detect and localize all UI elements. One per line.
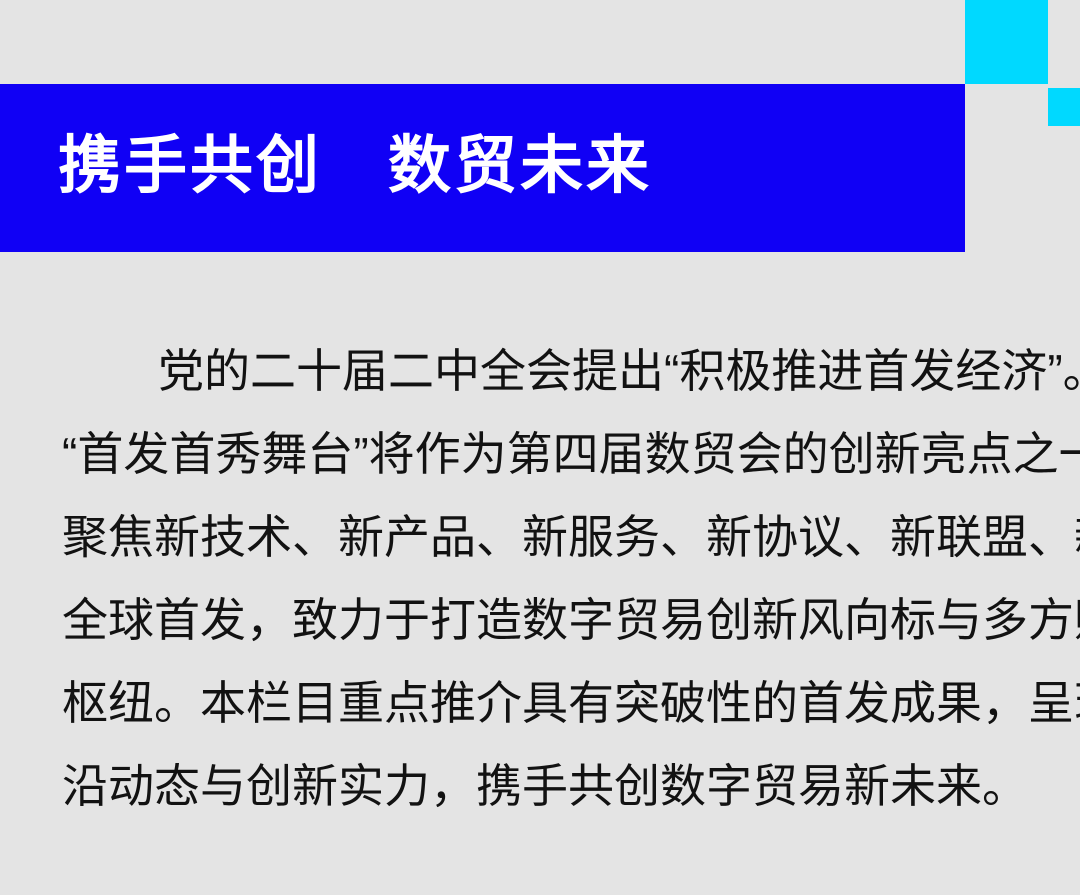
cyan-square-small-decoration <box>1048 88 1080 126</box>
cyan-square-large-decoration <box>965 0 1048 84</box>
slide-root: 携手共创 数贸未来 党的二十届二中全会提出“积极推进首发经济”。 “首发首秀舞台… <box>0 0 1080 895</box>
title-banner: 携手共创 数贸未来 <box>0 84 965 252</box>
body-line-2: “首发首秀舞台”将作为第四届数贸会的创新亮点之一， <box>62 413 1024 496</box>
body-line-4: 全球首发，致力于打造数字贸易创新风向标与多方赋能 <box>62 579 1024 662</box>
body-line-5: 枢纽。本栏目重点推介具有突破性的首发成果，呈现前 <box>62 662 1024 745</box>
body-paragraph: 党的二十届二中全会提出“积极推进首发经济”。 “首发首秀舞台”将作为第四届数贸会… <box>62 330 1024 828</box>
body-line-3: 聚焦新技术、新产品、新服务、新协议、新联盟、新签约的 <box>62 496 1024 579</box>
page-title: 携手共创 数贸未来 <box>58 135 652 198</box>
body-line-6: 沿动态与创新实力，携手共创数字贸易新未来。 <box>62 745 1024 828</box>
body-line-1: 党的二十届二中全会提出“积极推进首发经济”。 <box>62 330 1024 413</box>
